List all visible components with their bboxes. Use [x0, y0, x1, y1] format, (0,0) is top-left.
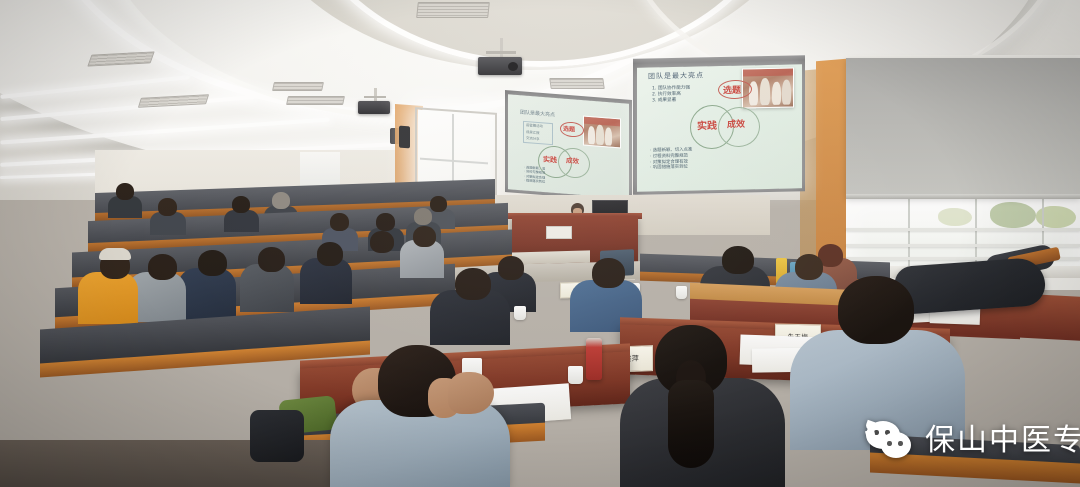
photo-figure: [772, 82, 781, 105]
paper-cup: [676, 286, 687, 299]
attendee-head: [258, 247, 285, 272]
left-slide-result-label: 成效: [566, 154, 579, 165]
air-vent-icon: [286, 96, 345, 105]
attendee-torso: [224, 210, 259, 232]
air-vent-icon: [416, 2, 490, 18]
attendee-head: [158, 198, 177, 216]
thermos-bottle: [586, 338, 602, 380]
attendee-head: [430, 196, 447, 212]
foreground-attendee-right-head: [838, 276, 914, 344]
left-slide-photo: [583, 116, 621, 149]
attendee-head: [232, 196, 250, 213]
attendee-head: [795, 254, 823, 280]
air-vent-icon: [272, 82, 324, 91]
projector-icon: [358, 101, 390, 114]
left-slide-textbox: 品管圈活动 成果汇报 交流分享: [523, 121, 553, 145]
right-slide-note: · 巩固措施落实到位: [650, 165, 692, 172]
attendee-head: [116, 183, 134, 200]
wechat-eye: [887, 441, 892, 446]
photo-figure: [588, 126, 595, 145]
attendee-head: [592, 258, 625, 288]
back-window: [300, 152, 340, 186]
right-slide-notes: · 选题新颖、切入点准 · 过程资料完整规范 · 对策拟定合理有效 · 巩固措施…: [650, 148, 692, 172]
left-slide-box-line: 交流分享: [524, 135, 552, 144]
attendee-head: [722, 246, 754, 274]
right-slide-bullet: 3. 成果显著: [652, 98, 690, 105]
wechat-eye: [898, 441, 903, 446]
attendee-head: [272, 192, 290, 209]
window-blind-icon[interactable]: [846, 58, 1080, 198]
attendee-cap: [99, 248, 131, 260]
attendee-head: [148, 254, 177, 280]
blind-bottom-bar[interactable]: [846, 194, 1080, 199]
attendee-torso-orange: [78, 272, 138, 324]
projector-mount: [374, 88, 377, 102]
projector-lens: [508, 62, 518, 71]
attendee-head: [413, 226, 436, 247]
wechat-bubble-front: [881, 432, 911, 458]
outside-foliage: [990, 202, 1036, 228]
foreground-attendee-right-arm: [448, 372, 494, 414]
photo-figure: [760, 78, 770, 105]
attendee-head: [376, 213, 395, 231]
window-guard-rail: [846, 228, 1080, 231]
attendee-head: [330, 213, 349, 231]
photo-figure: [605, 127, 612, 146]
speaker-icon: [399, 126, 410, 149]
air-vent-icon: [549, 78, 605, 89]
photo-figure: [782, 80, 791, 105]
podium-plate: [546, 226, 572, 239]
lecture-hall-photo: 团队是最大亮点 品管圈活动 成果汇报 交流分享 选题 实践 成效 · 选题新颖、…: [0, 0, 1080, 487]
right-slide-practice-label: 实践: [697, 117, 717, 132]
attendee-head: [455, 268, 491, 300]
photo-caption-band: [743, 68, 793, 76]
projector-bracket: [364, 96, 386, 98]
attendee-head: [198, 250, 227, 276]
wechat-account-name: 保山中医专: [925, 426, 1080, 456]
outside-foliage: [938, 208, 972, 226]
projector-mount: [500, 38, 503, 58]
attendee-head: [317, 242, 343, 266]
ponytail: [668, 380, 714, 468]
floor: [0, 440, 360, 487]
left-slide-topic-label: 选题: [563, 124, 575, 134]
backpack: [250, 410, 304, 462]
wechat-logo-icon: [866, 421, 916, 461]
right-slide-bullets: 1. 团队协作能力强 2. 执行效率高 3. 成果显著: [652, 86, 690, 105]
paper-cup: [514, 306, 526, 320]
projector-bracket: [486, 51, 516, 54]
left-slide-practice-label: 实践: [543, 154, 557, 165]
attendee-head: [370, 231, 394, 253]
right-slide-topic-label: 选题: [723, 83, 741, 96]
wechat-watermark: 保山中医专: [866, 421, 1080, 461]
left-slide-notes: · 选题新颖、准 · 资料完整规范 · 对策拟定合理 · 措施落实到位: [524, 165, 545, 184]
paper-cup: [568, 366, 583, 384]
attendee-head: [498, 256, 524, 280]
right-slide-title: 团队是最大亮点: [648, 70, 704, 81]
photo-figure: [596, 125, 604, 146]
right-slide-result-label: 成效: [727, 117, 745, 130]
attendee-head: [414, 208, 432, 225]
